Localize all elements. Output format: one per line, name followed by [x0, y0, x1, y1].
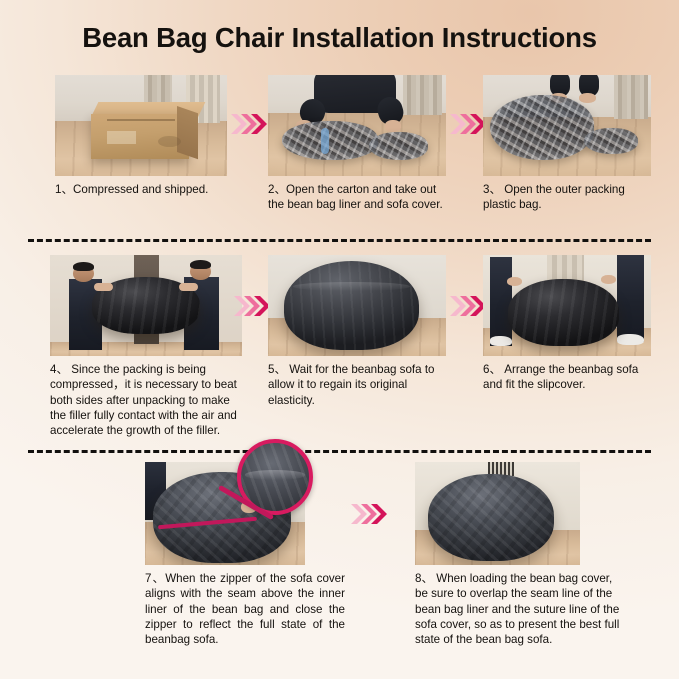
arrow-icon-step1-to-step2 [230, 113, 270, 135]
page-title: Bean Bag Chair Installation Instructions [0, 22, 679, 54]
photo-person-opening-vacuum-bags [268, 75, 446, 176]
step-panel-6: 6、 Arrange the beanbag sofa and fit the … [483, 255, 651, 393]
step-caption-1: 1、Compressed and shipped. [55, 182, 227, 197]
step-caption-4: 4、 Since the packing is being compressed… [50, 362, 242, 438]
step-caption-8: 8、 When loading the bean bag cover, be s… [415, 571, 620, 647]
arrow-icon-step4-to-step5 [233, 295, 273, 317]
photo-opening-outer-plastic-bag [483, 75, 651, 176]
step-caption-2: 2、Open the carton and take out the bean … [268, 182, 446, 213]
photo-two-workers-beating-bag [50, 255, 242, 356]
photo-finished-plush-beanbag [415, 462, 580, 565]
step-panel-4: 4、 Since the packing is being compressed… [50, 255, 242, 438]
photo-compressed-carton-on-floor [55, 75, 227, 176]
step-panel-8: 8、 When loading the bean bag cover, be s… [415, 462, 620, 647]
step-panel-7: 7、When the zipper of the sofa cover alig… [145, 462, 345, 647]
step-panel-3: 3、 Open the outer packing plastic bag. [483, 75, 651, 213]
instruction-poster: Bean Bag Chair Installation Instructions… [0, 0, 679, 679]
step-panel-1: 1、Compressed and shipped. [55, 75, 227, 197]
photo-fitting-the-slipcover [483, 255, 651, 356]
step-panel-2: 2、Open the carton and take out the bean … [268, 75, 446, 213]
step-panel-5: 5、 Wait for the beanbag sofa to allow it… [268, 255, 446, 408]
section-divider-1 [28, 239, 651, 242]
step-caption-6: 6、 Arrange the beanbag sofa and fit the … [483, 362, 651, 393]
section-divider-2 [28, 450, 651, 453]
step-caption-3: 3、 Open the outer packing plastic bag. [483, 182, 651, 213]
arrow-icon-step7-to-step8 [350, 503, 390, 525]
step-caption-7: 7、When the zipper of the sofa cover alig… [145, 571, 345, 647]
step-caption-5: 5、 Wait for the beanbag sofa to allow it… [268, 362, 446, 408]
photo-beanbag-regaining-shape [268, 255, 446, 356]
